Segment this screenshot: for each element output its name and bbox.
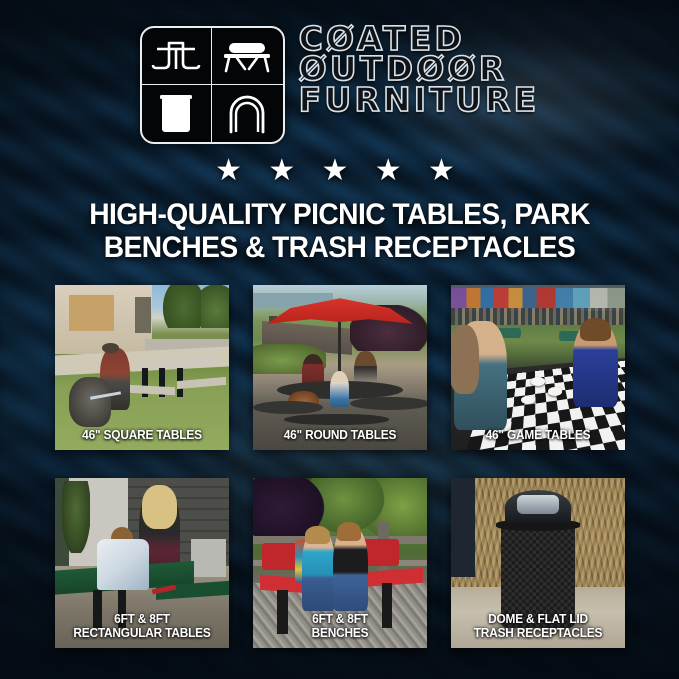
product-photo (451, 285, 625, 450)
banner-content: CØATED ØUTDØØR FURNITURE ★ ★ ★ ★ ★ HIGH-… (0, 0, 679, 679)
product-tile-square-tables[interactable]: 46" SQUARE TABLES (55, 285, 229, 450)
dome-lid-trash-icon (212, 85, 283, 142)
product-caption: 6FT & 8FT BENCHES (257, 612, 422, 640)
park-bench-icon (212, 28, 283, 85)
product-tile-rectangular-tables[interactable]: 6FT & 8FT RECTANGULAR TABLES (55, 478, 229, 648)
product-caption: 46" SQUARE TABLES (59, 428, 224, 442)
star-rating: ★ ★ ★ ★ ★ (0, 156, 679, 186)
product-tile-trash-receptacles[interactable]: DOME & FLAT LID TRASH RECEPTACLES (451, 478, 625, 648)
product-photo (253, 285, 427, 450)
logo-icon-grid (140, 26, 285, 144)
product-photo (55, 285, 229, 450)
product-tile-benches[interactable]: 6FT & 8FT BENCHES (253, 478, 427, 648)
product-caption: 46" ROUND TABLES (257, 428, 422, 442)
wordmark-line-3: FURNITURE (299, 85, 540, 115)
advertisement-banner: CØATED ØUTDØØR FURNITURE ★ ★ ★ ★ ★ HIGH-… (0, 0, 679, 679)
headline: HIGH-QUALITY PICNIC TABLES, PARK BENCHES… (20, 198, 658, 264)
picnic-table-icon (142, 28, 213, 85)
product-tile-game-tables[interactable]: 46" GAME TABLES (451, 285, 625, 450)
product-tile-round-tables[interactable]: 46" ROUND TABLES (253, 285, 427, 450)
product-grid: 46" SQUARE TABLES 46" ROUND TABLES (55, 285, 625, 648)
headline-line-1: HIGH-QUALITY PICNIC TABLES, PARK (89, 198, 590, 231)
brand-wordmark: CØATED ØUTDØØR FURNITURE (299, 24, 540, 115)
product-caption: DOME & FLAT LID TRASH RECEPTACLES (455, 612, 620, 640)
headline-line-2: BENCHES & TRASH RECEPTACLES (20, 231, 658, 264)
product-caption: 6FT & 8FT RECTANGULAR TABLES (59, 612, 224, 640)
flat-lid-trash-icon (142, 85, 213, 142)
brand-logo[interactable]: CØATED ØUTDØØR FURNITURE (0, 26, 679, 144)
product-caption: 46" GAME TABLES (455, 428, 620, 442)
